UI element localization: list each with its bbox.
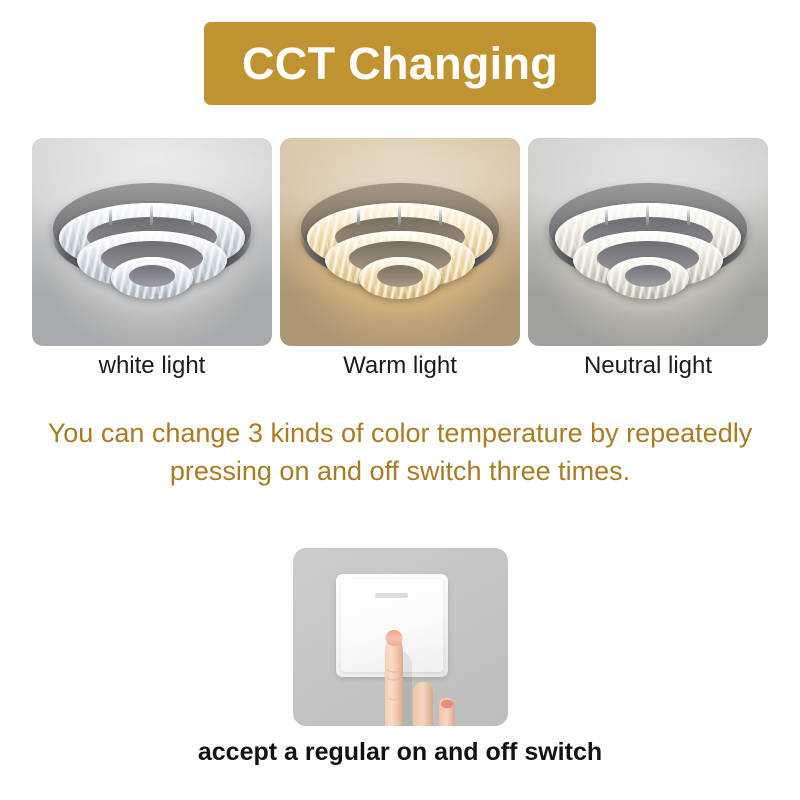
title-banner: CCT Changing xyxy=(204,22,596,105)
lamp-post xyxy=(687,209,690,225)
bottom-caption: accept a regular on and off switch xyxy=(0,738,800,767)
switch-face-plate xyxy=(336,574,448,677)
switch-rocker-button[interactable] xyxy=(341,579,443,672)
lamp-post xyxy=(605,209,608,225)
ring-finger xyxy=(439,698,455,726)
wall-switch-panel xyxy=(293,548,508,726)
fingernail xyxy=(441,700,453,709)
description-line-1: You can change 3 kinds of color temperat… xyxy=(18,414,782,452)
lamp-post xyxy=(150,205,153,225)
product-photo-warm-light xyxy=(280,138,520,346)
lamp-post xyxy=(357,209,360,225)
caption-warm-light: Warm light xyxy=(280,352,520,381)
description-line-2: pressing on and off switch three times. xyxy=(18,452,782,490)
gallery-captions: white light Warm light Neutral light xyxy=(32,352,768,381)
lamp-post xyxy=(109,209,112,225)
middle-finger xyxy=(413,682,433,726)
lamp-ring-inner-hole xyxy=(625,265,671,287)
lamp-post xyxy=(646,205,649,225)
switch-illustration-container xyxy=(0,548,800,726)
page-title: CCT Changing xyxy=(242,41,558,86)
lamp-post xyxy=(191,209,194,225)
lamp-ring-inner-hole xyxy=(129,265,175,287)
lamp-ring-inner-hole xyxy=(377,265,423,287)
light-mode-gallery xyxy=(32,138,768,346)
description-text: You can change 3 kinds of color temperat… xyxy=(18,414,782,491)
caption-white-light: white light xyxy=(32,352,272,381)
title-banner-container: CCT Changing xyxy=(0,22,800,105)
caption-neutral-light: Neutral light xyxy=(528,352,768,381)
product-photo-neutral-light xyxy=(528,138,768,346)
lamp-post xyxy=(439,209,442,225)
switch-indicator-line xyxy=(375,593,408,598)
product-photo-white-light xyxy=(32,138,272,346)
lamp-post xyxy=(398,205,401,225)
crystal-ceiling-lamp xyxy=(49,177,255,315)
crystal-ceiling-lamp xyxy=(545,177,751,315)
crystal-ceiling-lamp xyxy=(297,177,503,315)
